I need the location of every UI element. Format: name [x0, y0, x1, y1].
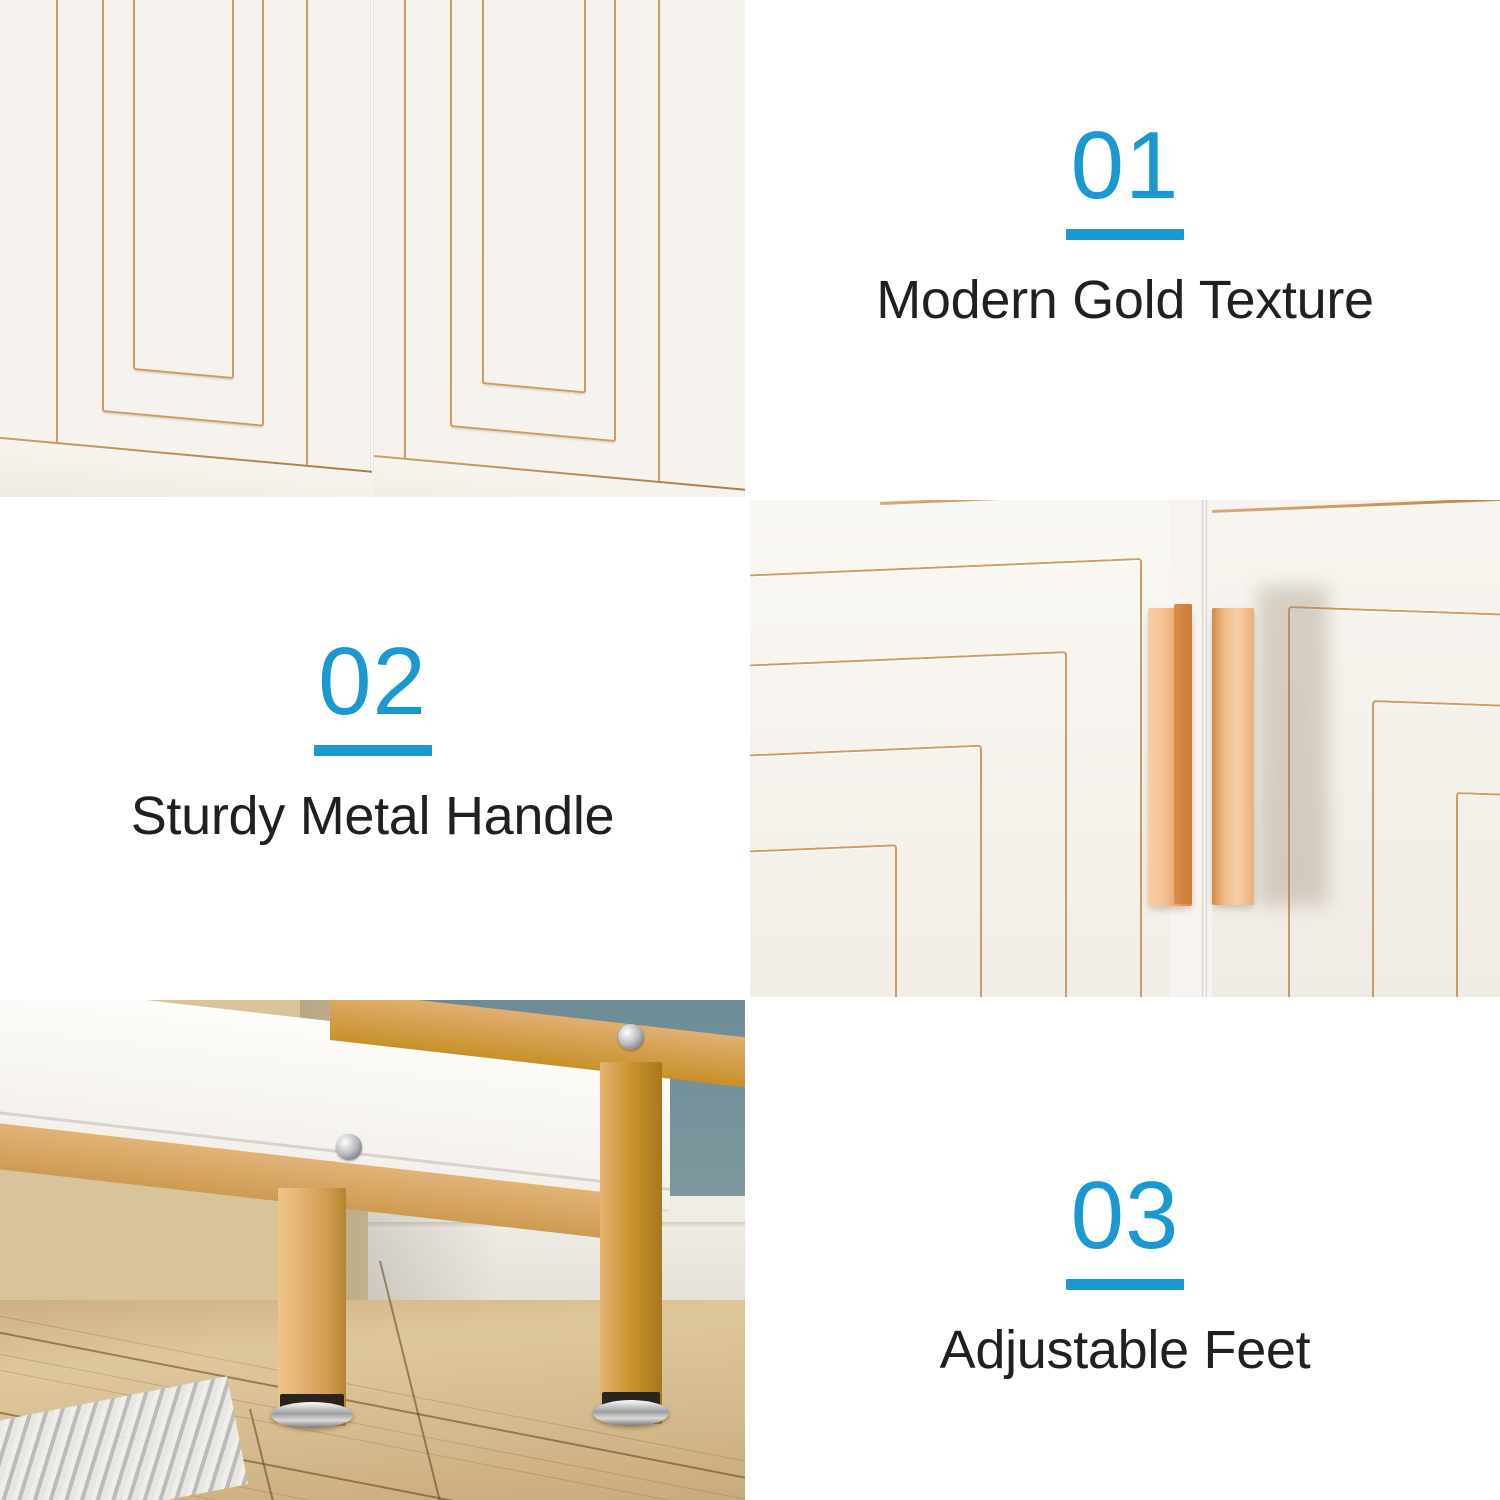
callout-caption-01: Modern Gold Texture	[750, 270, 1500, 330]
gold-leg-back	[600, 1062, 662, 1424]
callout-number-02: 02	[318, 634, 427, 756]
cabinet-doors-image	[0, 0, 745, 497]
handle-shadow	[1258, 586, 1328, 906]
adjustable-feet-image	[0, 1000, 745, 1500]
callout-03: 03 Adjustable Feet	[750, 1000, 1500, 1500]
handle-bar-right	[1212, 608, 1254, 905]
leg-shadow	[236, 1412, 416, 1440]
gold-handles-image	[750, 500, 1500, 997]
handle-bar-left-edge	[1174, 604, 1192, 904]
door-groove	[133, 0, 234, 379]
callout-number-03-text: 03	[1071, 1162, 1180, 1269]
callout-number-03: 03	[1071, 1168, 1180, 1290]
callout-caption-03: Adjustable Feet	[750, 1320, 1500, 1380]
door-seam	[370, 0, 374, 497]
callout-underline-01	[1066, 229, 1184, 240]
callout-number-01: 01	[1071, 118, 1180, 240]
photo-cabinet-doors-gold-grooves	[0, 0, 745, 497]
callout-number-02-text: 02	[318, 628, 427, 735]
callout-caption-02: Sturdy Metal Handle	[0, 786, 745, 846]
leg-shadow	[560, 1410, 730, 1436]
leg-screw	[336, 1134, 362, 1160]
door-seam	[1202, 500, 1207, 997]
door-groove	[482, 0, 586, 393]
photo-adjustable-feet	[0, 1000, 745, 1500]
infographic-sheet: 01 Modern Gold Texture 02 Sturdy Metal H…	[0, 0, 1500, 1500]
callout-01: 01 Modern Gold Texture	[750, 0, 1500, 497]
callout-number-01-text: 01	[1071, 112, 1180, 219]
photo-gold-bar-handles	[750, 500, 1500, 997]
gold-leg-front	[278, 1188, 346, 1426]
callout-underline-02	[314, 745, 432, 756]
leg-screw	[618, 1024, 644, 1050]
door-groove	[750, 844, 897, 997]
callout-underline-03	[1066, 1279, 1184, 1290]
callout-02: 02 Sturdy Metal Handle	[0, 502, 745, 995]
door-groove	[1456, 792, 1500, 997]
